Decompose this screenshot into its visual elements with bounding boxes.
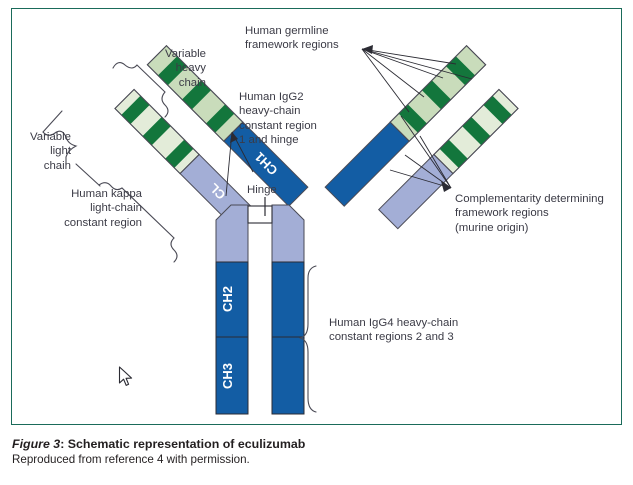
- ch3-label: CH3: [220, 363, 235, 389]
- label-human-igg4: Human IgG4 heavy-chain constant regions …: [329, 316, 489, 345]
- label-hinge: Hinge: [247, 183, 295, 197]
- right-hinge-neck: [272, 205, 304, 262]
- label-variable-heavy-chain: Variable heavy chain: [118, 47, 206, 90]
- right-heavy-chain: [325, 46, 486, 207]
- label-human-germline: Human germline framework regions: [245, 24, 373, 53]
- label-variable-light-chain: Variable light chain: [5, 130, 71, 173]
- label-human-kappa: Human kappa light-chain constant region: [22, 187, 142, 230]
- caption-figure-number: Figure 3: [12, 437, 60, 451]
- caption-title: : Schematic representation of eculizumab: [60, 437, 305, 451]
- brace-variable-light-chain-b: [43, 111, 62, 132]
- mouse-pointer-icon: [118, 366, 134, 388]
- hinge-connector: [248, 206, 272, 223]
- figure-container: CH1 CL CH2 CH3: [0, 0, 633, 485]
- figure-caption: Figure 3: Schematic representation of ec…: [12, 436, 612, 468]
- label-human-igg2: Human IgG2 heavy-chain constant region 1…: [239, 90, 345, 148]
- brace-variable-light-chain-c: [76, 164, 100, 186]
- caption-credit: Reproduced from reference 4 with permiss…: [12, 452, 612, 468]
- right-ch2-segment: [272, 262, 304, 337]
- right-cl-segment: [379, 154, 453, 228]
- right-ch3-segment: [272, 337, 304, 414]
- ch2-label: CH2: [220, 286, 235, 312]
- label-cdr: Complementarity determining framework re…: [455, 192, 625, 235]
